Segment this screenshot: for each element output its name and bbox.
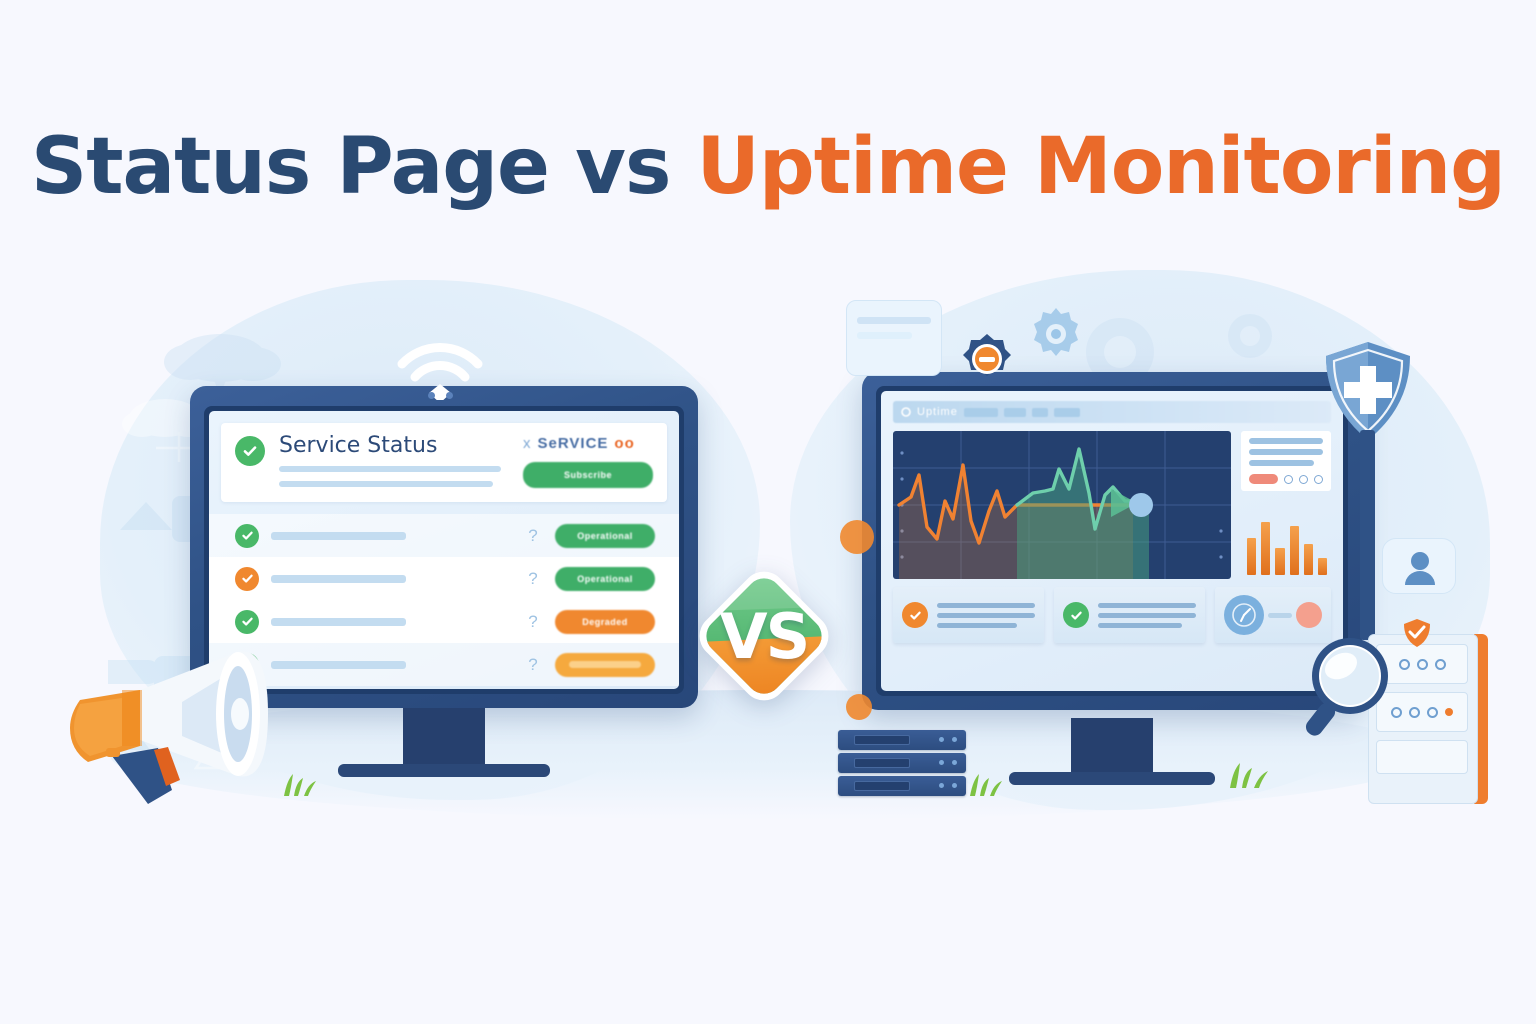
dashboard-topbar: Uptime <box>893 401 1331 423</box>
topbar-segment <box>1032 408 1048 417</box>
alert-pill <box>1249 474 1278 484</box>
brand-lockup: x SeRVICE oo <box>523 435 653 452</box>
left-monitor-foot <box>338 764 550 777</box>
brand-name: SeRVICE <box>538 435 609 452</box>
left-monitor-neck <box>403 708 485 766</box>
check-circle-icon <box>902 602 928 628</box>
status-badge-wrap: Operational <box>555 524 655 548</box>
subscribe-button[interactable]: Subscribe <box>523 462 653 488</box>
security-badge-icon <box>960 332 1014 386</box>
server-led <box>939 737 944 742</box>
grass-decoration <box>1226 760 1272 788</box>
gauge-icon <box>1224 595 1264 635</box>
server-slot <box>854 735 910 745</box>
side-summary-card <box>1241 431 1331 491</box>
header-right-group: x SeRVICE oo Subscribe <box>523 435 653 488</box>
status-card-lines <box>937 603 1035 628</box>
status-badge: Degraded <box>555 610 655 634</box>
right-monitor-neck <box>1071 718 1153 774</box>
service-name-placeholder <box>271 618 406 626</box>
status-badge: Operational <box>555 524 655 548</box>
status-badge-wrap: Operational <box>555 567 655 591</box>
circle-icon <box>1299 475 1308 484</box>
vs-badge: VS <box>688 560 840 712</box>
service-name-placeholder <box>271 532 406 540</box>
card-text-line <box>1098 603 1196 608</box>
right-monitor-inner-bezel: Uptime <box>876 386 1348 696</box>
service-meta: ? <box>523 569 543 589</box>
server-slot <box>854 781 910 791</box>
bar <box>1261 522 1270 575</box>
megaphone-icon <box>62 628 302 818</box>
service-meta: ? <box>523 526 543 546</box>
right-monitor-foot <box>1009 772 1215 785</box>
progress-fill <box>569 661 641 668</box>
header-placeholder-bar <box>279 466 501 472</box>
circle-icon <box>1435 659 1446 670</box>
side-note-card <box>846 300 942 376</box>
alert-circle-icon <box>1296 602 1322 628</box>
wifi-icon <box>392 334 488 400</box>
page-title-wrap: Status Page vs Uptime Monitoring <box>0 122 1536 212</box>
status-card[interactable] <box>1054 587 1205 643</box>
cabinet-shield-tab <box>1402 618 1432 648</box>
service-status-header: Service Status x SeRVICE oo Subscribe <box>221 423 667 502</box>
user-icon <box>1383 539 1457 595</box>
circle-icon <box>1409 707 1420 718</box>
card-text-line <box>1098 613 1196 618</box>
server-led <box>952 737 957 742</box>
left-monitor-camera-dot <box>428 392 435 399</box>
server-unit <box>838 776 966 796</box>
check-circle-icon <box>1063 602 1089 628</box>
service-status-row[interactable]: ? Operational <box>209 514 679 557</box>
grass-decoration <box>280 772 320 796</box>
left-monitor-led-dot <box>446 392 453 399</box>
bar <box>1318 558 1327 575</box>
vs-label: VS <box>688 560 840 712</box>
server-led <box>952 760 957 765</box>
card-text-line <box>937 613 1035 618</box>
card-text-line <box>1098 623 1182 628</box>
server-slot <box>854 758 910 768</box>
side-alert-row <box>1249 474 1323 484</box>
topbar-segment <box>1054 408 1080 417</box>
user-avatar-note <box>1382 538 1456 594</box>
gauge-connector <box>1268 613 1292 618</box>
left-orange-marker-small <box>846 694 872 720</box>
page-title-part-orange: Uptime Monitoring <box>697 122 1505 212</box>
server-led <box>952 783 957 788</box>
page-heading: Service Status <box>279 435 509 457</box>
bar <box>1275 548 1284 575</box>
status-progress-badge <box>555 653 655 677</box>
alert-dot <box>1445 708 1453 716</box>
side-bar-chart <box>1241 497 1331 579</box>
card-text-line <box>937 603 1035 608</box>
bar <box>1247 538 1256 575</box>
service-name-placeholder <box>271 575 406 583</box>
response-time-chart <box>893 431 1231 579</box>
check-circle-icon <box>235 436 265 466</box>
note-line <box>857 332 912 339</box>
uptime-dashboard-screen: Uptime <box>881 391 1343 691</box>
circle-icon <box>1417 659 1428 670</box>
service-meta: ? <box>523 655 543 675</box>
server-unit <box>838 753 966 773</box>
brand-suffix: oo <box>614 435 634 452</box>
bar <box>1304 544 1313 575</box>
header-placeholder-bar <box>279 481 493 487</box>
topbar-segment <box>1004 408 1026 417</box>
dashboard-side-panel <box>1241 431 1331 579</box>
status-card-lines <box>1098 603 1196 628</box>
check-circle-icon <box>235 567 259 591</box>
status-badge-wrap <box>555 653 655 677</box>
circle-icon <box>1427 707 1438 718</box>
server-rack-icon <box>838 730 966 802</box>
magnifier-icon <box>1286 626 1406 746</box>
service-status-header-main: Service Status <box>279 435 509 487</box>
dashboard-status-cards <box>881 579 1343 653</box>
gear-icon <box>1028 306 1084 362</box>
left-orange-marker <box>840 520 874 554</box>
dashboard-body <box>881 423 1343 579</box>
service-meta: ? <box>523 612 543 632</box>
page-title: Status Page vs Uptime Monitoring <box>0 122 1536 212</box>
side-text-line <box>1249 438 1323 444</box>
circle-icon <box>1284 475 1293 484</box>
server-led <box>939 760 944 765</box>
service-status-row[interactable]: ? Operational <box>209 557 679 600</box>
server-led <box>939 783 944 788</box>
status-badge: Operational <box>555 567 655 591</box>
server-unit <box>838 730 966 750</box>
side-text-line <box>1249 460 1314 466</box>
page-title-part-dark: Status Page vs <box>31 122 697 212</box>
note-line <box>857 317 931 324</box>
topbar-segment <box>964 408 998 417</box>
card-text-line <box>937 623 1017 628</box>
grass-decoration <box>966 772 1006 796</box>
status-card[interactable] <box>893 587 1044 643</box>
circle-icon <box>901 407 911 417</box>
dashboard-topbar-label: Uptime <box>917 406 958 418</box>
bar <box>1290 526 1299 575</box>
brand-x-mark: x <box>523 435 532 452</box>
circle-icon <box>1314 475 1323 484</box>
status-badge-wrap: Degraded <box>555 610 655 634</box>
check-circle-icon <box>235 524 259 548</box>
side-text-line <box>1249 449 1323 455</box>
shield-pole <box>1360 430 1375 640</box>
